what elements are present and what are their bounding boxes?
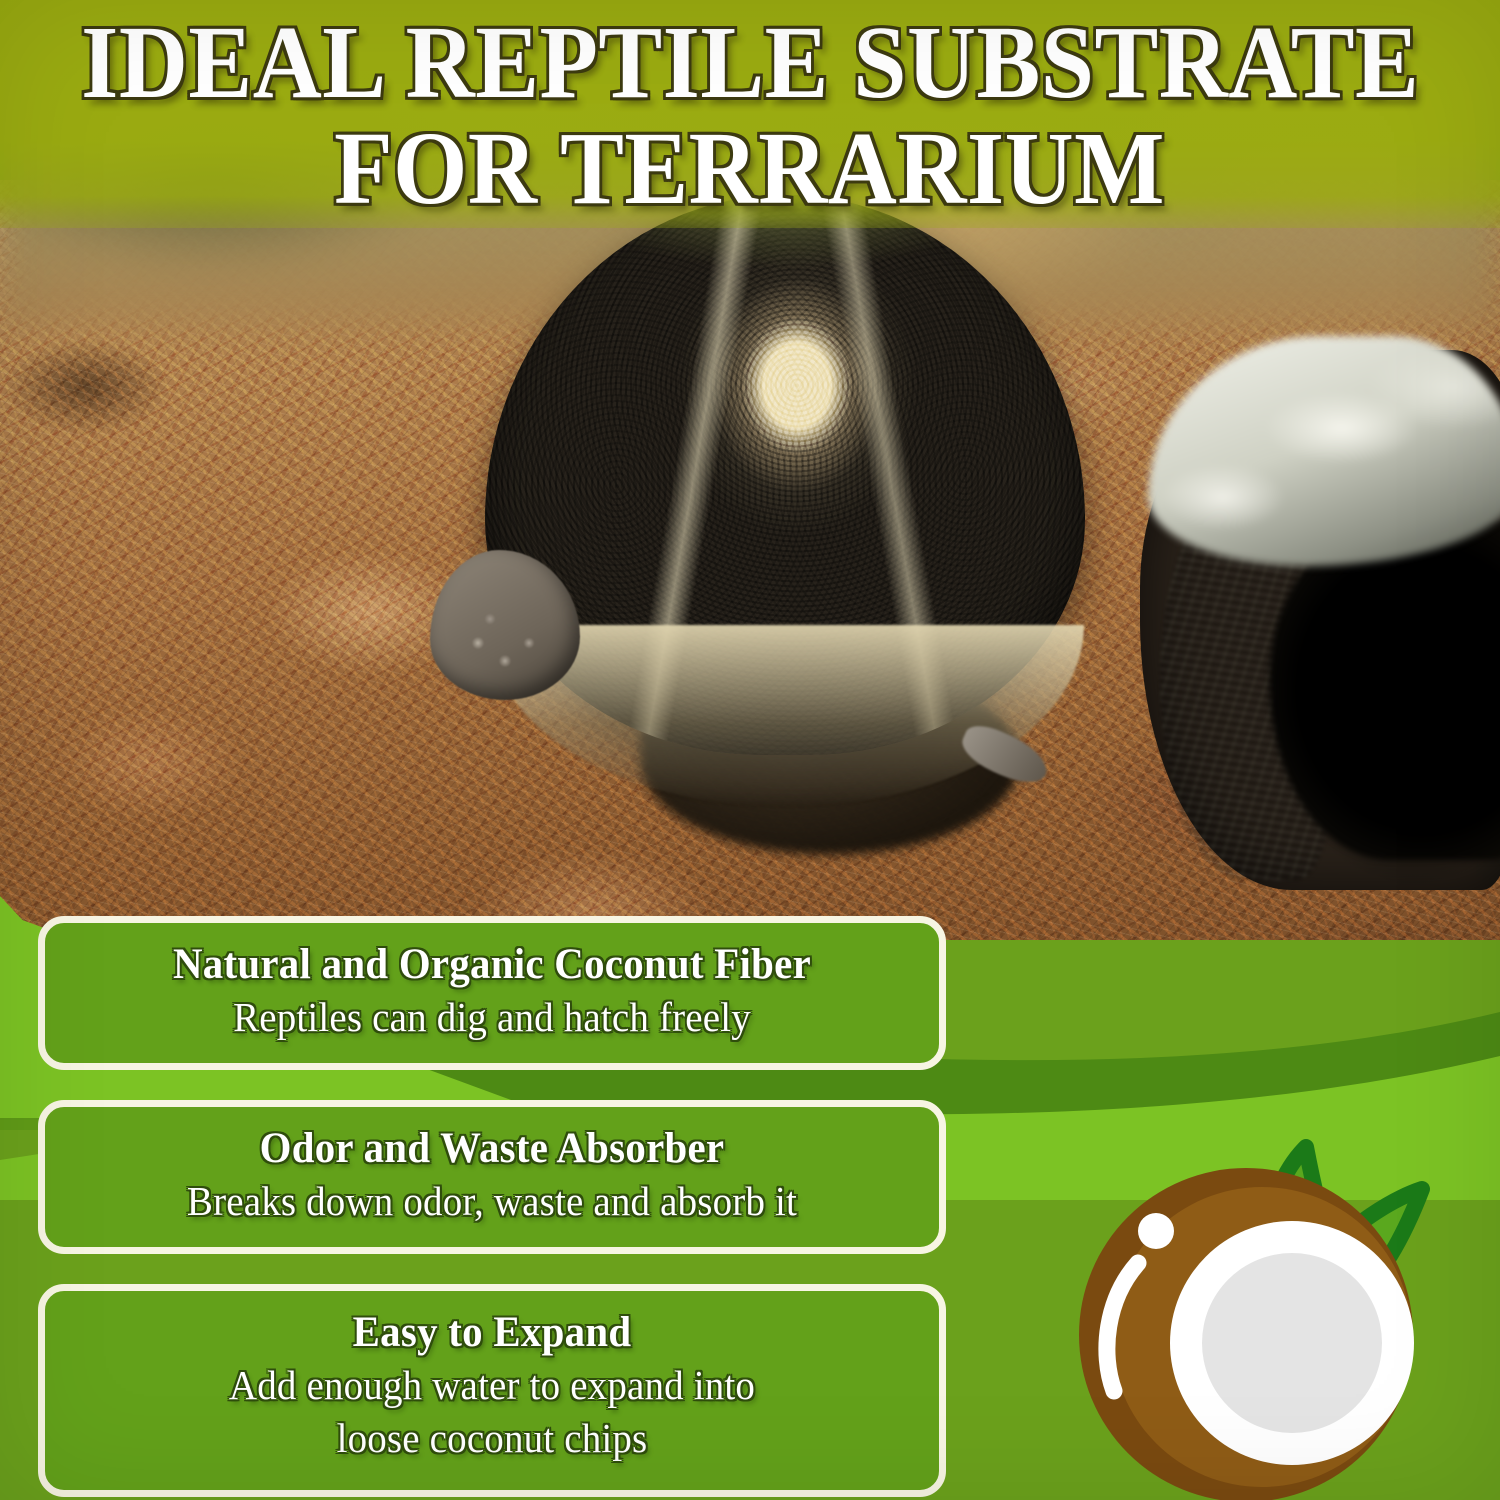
infographic-canvas: IDEAL REPTILE SUBSTRATE FOR TERRARIUM Na…	[0, 0, 1500, 1500]
feature-title: Odor and Waste Absorber	[92, 1125, 892, 1172]
feature-subtitle-line-1: Add enough water to expand into	[92, 1362, 892, 1409]
feature-title: Natural and Organic Coconut Fiber	[92, 941, 892, 988]
tortoise	[430, 195, 1130, 855]
feature-subtitle: Breaks down odor, waste and absorb it	[92, 1178, 892, 1225]
rock-hide-moss	[1148, 336, 1500, 566]
page-title-line-1: IDEAL REPTILE SUBSTRATE	[81, 14, 1419, 112]
feature-box-natural-organic-coconut-fiber: Natural and Organic Coconut Fiber Reptil…	[38, 916, 946, 1070]
coconut-shine-dot	[1138, 1213, 1174, 1249]
feature-box-easy-to-expand: Easy to Expand Add enough water to expan…	[38, 1284, 946, 1497]
coconut-icon	[1030, 1085, 1500, 1500]
rock-hide	[1120, 330, 1500, 890]
feature-subtitle: Reptiles can dig and hatch freely	[92, 994, 892, 1041]
feature-title: Easy to Expand	[92, 1309, 892, 1356]
header-banner: IDEAL REPTILE SUBSTRATE FOR TERRARIUM	[0, 0, 1500, 228]
feature-subtitle-line-2: loose coconut chips	[92, 1415, 892, 1462]
feature-box-odor-and-waste-absorber: Odor and Waste Absorber Breaks down odor…	[38, 1100, 946, 1254]
feature-list: Natural and Organic Coconut Fiber Reptil…	[38, 916, 946, 1500]
coconut-flesh-center	[1202, 1253, 1382, 1433]
page-title-line-2: FOR TERRARIUM	[335, 120, 1166, 218]
